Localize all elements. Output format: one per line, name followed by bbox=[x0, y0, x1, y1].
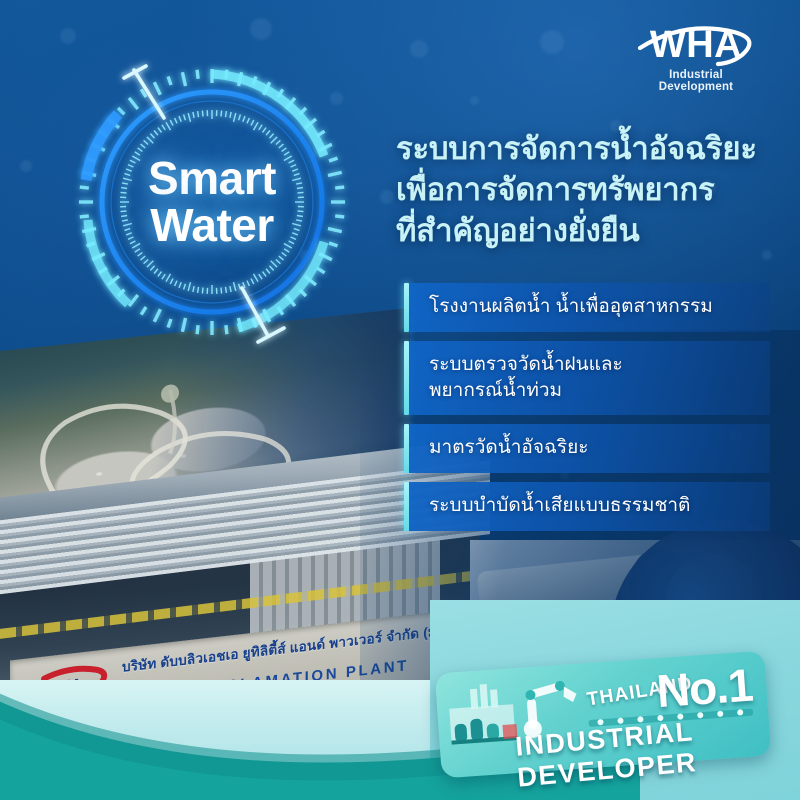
page-headline: ระบบการจัดการน้ำอัจฉริยะ เพื่อการจัดการท… bbox=[396, 128, 786, 252]
emblem-title-line2: Water bbox=[150, 202, 274, 249]
badge-rank-label: No.1 bbox=[655, 658, 754, 719]
list-item-text: โรงงานผลิตน้ำ น้ำเพื่ออุตสาหกรรม bbox=[429, 294, 756, 320]
list-item-text: มาตรวัดน้ำอัจฉริยะ bbox=[429, 435, 756, 461]
list-item-text-2: พยากรณ์น้ำท่วม bbox=[429, 378, 756, 404]
wha-logo: WHA Industrial Development bbox=[630, 26, 762, 112]
emblem-title-line1: Smart bbox=[148, 155, 276, 202]
list-item-panel: มาตรวัดน้ำอัจฉริยะ bbox=[409, 424, 770, 473]
headline-line-3: ที่สำคัญอย่างยั่งยืน bbox=[396, 210, 786, 251]
list-item-text: ระบบบำบัดน้ำเสียแบบธรรมชาติ bbox=[429, 493, 756, 519]
thailand-no1-badge: THAILAND No.1 INDUSTRIAL DEVELOPER bbox=[435, 651, 772, 779]
headline-line-1: ระบบการจัดการน้ำอัจฉริยะ bbox=[396, 128, 786, 169]
list-item-panel: ระบบบำบัดน้ำเสียแบบธรรมชาติ bbox=[409, 482, 770, 531]
smart-water-infographic: WHA Utilities & Power บริษัท ดับบลิวเอชเ… bbox=[0, 0, 800, 800]
list-item-text: ระบบตรวจวัดน้ำฝนและ bbox=[429, 352, 756, 378]
list-item: มาตรวัดน้ำอัจฉริยะ bbox=[404, 424, 770, 473]
emblem-title: Smart Water bbox=[62, 52, 362, 352]
wha-sub-development: Development bbox=[630, 81, 762, 93]
wha-wordmark: WHA bbox=[630, 26, 762, 64]
list-item-panel: ระบบตรวจวัดน้ำฝนและ พยากรณ์น้ำท่วม bbox=[409, 341, 770, 416]
list-item: ระบบตรวจวัดน้ำฝนและ พยากรณ์น้ำท่วม bbox=[404, 341, 770, 416]
smart-water-emblem: Smart Water bbox=[62, 52, 362, 352]
wha-sub-industrial: Industrial bbox=[630, 69, 762, 81]
list-item: โรงงานผลิตน้ำ น้ำเพื่ออุตสาหกรรม bbox=[404, 283, 770, 332]
list-item: ระบบบำบัดน้ำเสียแบบธรรมชาติ bbox=[404, 482, 770, 531]
headline-line-2: เพื่อการจัดการทรัพยากร bbox=[396, 169, 786, 210]
feature-list: โรงงานผลิตน้ำ น้ำเพื่ออุตสาหกรรม ระบบตรว… bbox=[404, 283, 770, 540]
list-item-panel: โรงงานผลิตน้ำ น้ำเพื่ออุตสาหกรรม bbox=[409, 283, 770, 332]
